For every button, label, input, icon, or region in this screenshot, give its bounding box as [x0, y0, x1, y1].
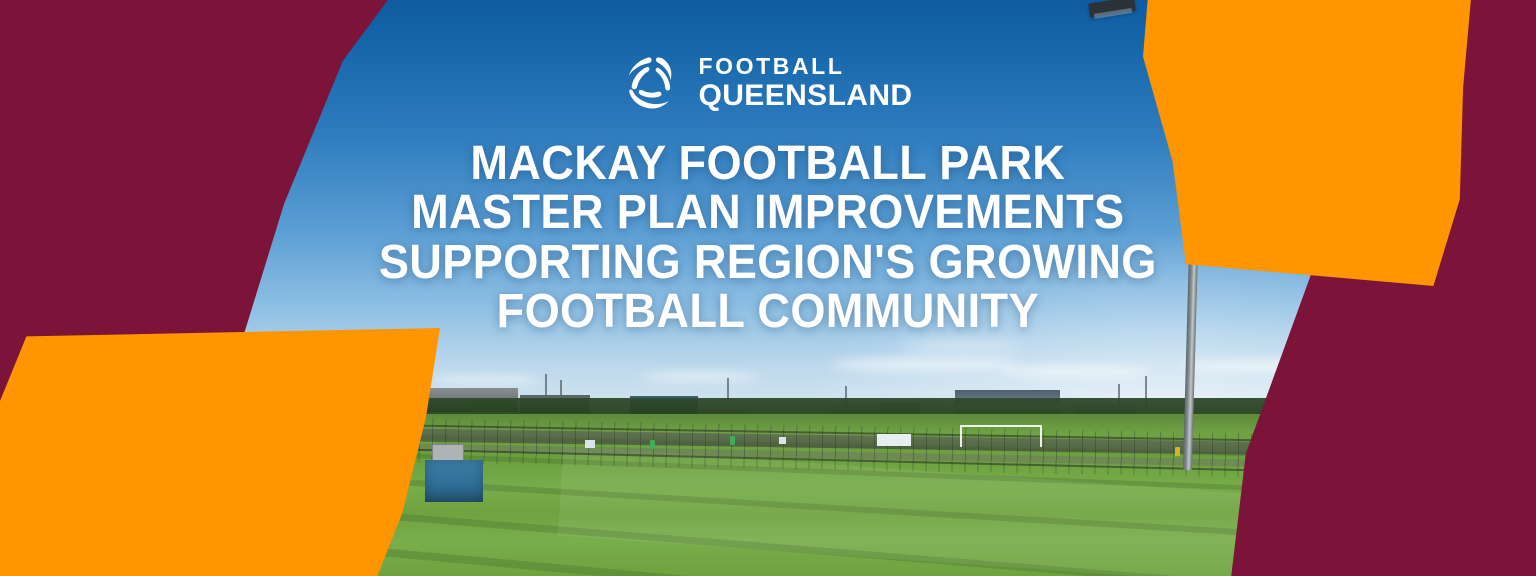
- headline-line-1: MACKAY FOOTBALL PARK: [379, 139, 1157, 188]
- logo-word-queensland: QUEENSLAND: [698, 81, 912, 111]
- logo-wordmark: FOOTBALL QUEENSLAND: [698, 55, 912, 111]
- headline-line-2: MASTER PLAN IMPROVEMENTS: [379, 188, 1157, 237]
- logo-word-football: FOOTBALL: [698, 55, 912, 78]
- headline-line-4: FOOTBALL COMMUNITY: [379, 287, 1157, 336]
- football-ball-icon: [623, 54, 681, 112]
- banner-content: FOOTBALL QUEENSLAND MACKAY FOOTBALL PARK…: [0, 0, 1536, 576]
- page-title: MACKAY FOOTBALL PARK MASTER PLAN IMPROVE…: [379, 139, 1157, 337]
- football-queensland-logo: FOOTBALL QUEENSLAND: [623, 54, 912, 112]
- headline-line-3: SUPPORTING REGION'S GROWING: [379, 238, 1157, 287]
- promotional-banner: FOOTBALL QUEENSLAND MACKAY FOOTBALL PARK…: [0, 0, 1536, 576]
